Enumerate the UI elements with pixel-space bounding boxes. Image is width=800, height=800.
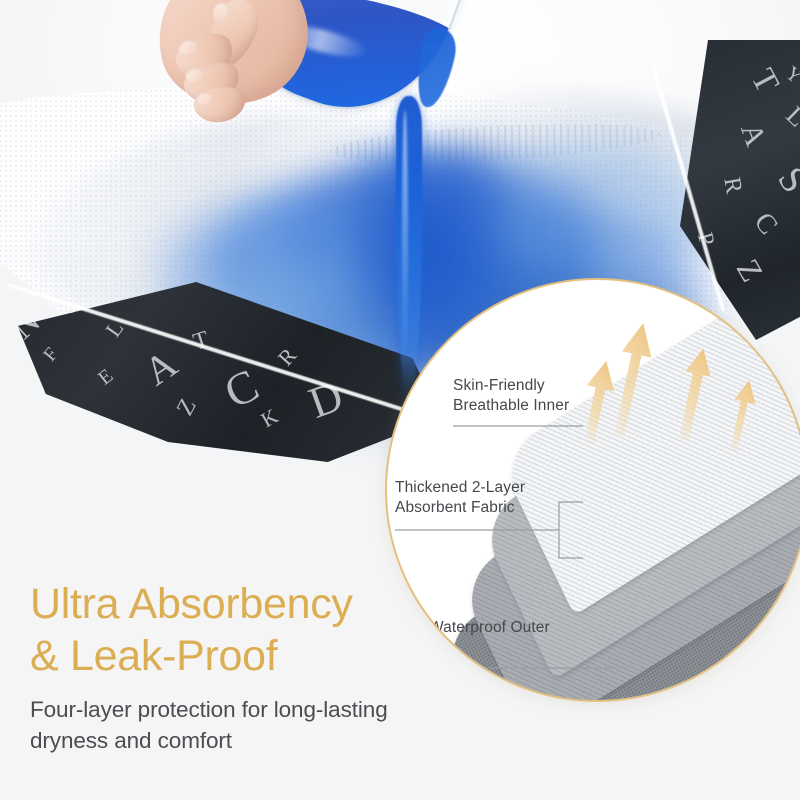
label-waterproof-outer: Waterproof Outer <box>429 618 550 638</box>
subheadline: Four-layer protection for long-lasting d… <box>30 694 388 756</box>
label-absorbent-fabric: Thickened 2-Layer Absorbent Fabric <box>395 478 525 519</box>
headline-line-1: Ultra Absorbency <box>30 578 353 630</box>
label-breathable-inner: Skin-Friendly Breathable Inner <box>453 376 569 417</box>
subheadline-line-2: dryness and comfort <box>30 725 388 756</box>
product-feature-image: N S L A T C R D Z E K F T L A S R C <box>0 0 800 800</box>
hand-holding-beaker <box>150 0 470 134</box>
headline: Ultra Absorbency & Leak-Proof <box>30 578 353 683</box>
subheadline-line-1: Four-layer protection for long-lasting <box>30 694 388 725</box>
layer-diagram-callout: Skin-Friendly Breathable Inner Thickened… <box>385 278 800 702</box>
headline-line-2: & Leak-Proof <box>30 630 353 682</box>
